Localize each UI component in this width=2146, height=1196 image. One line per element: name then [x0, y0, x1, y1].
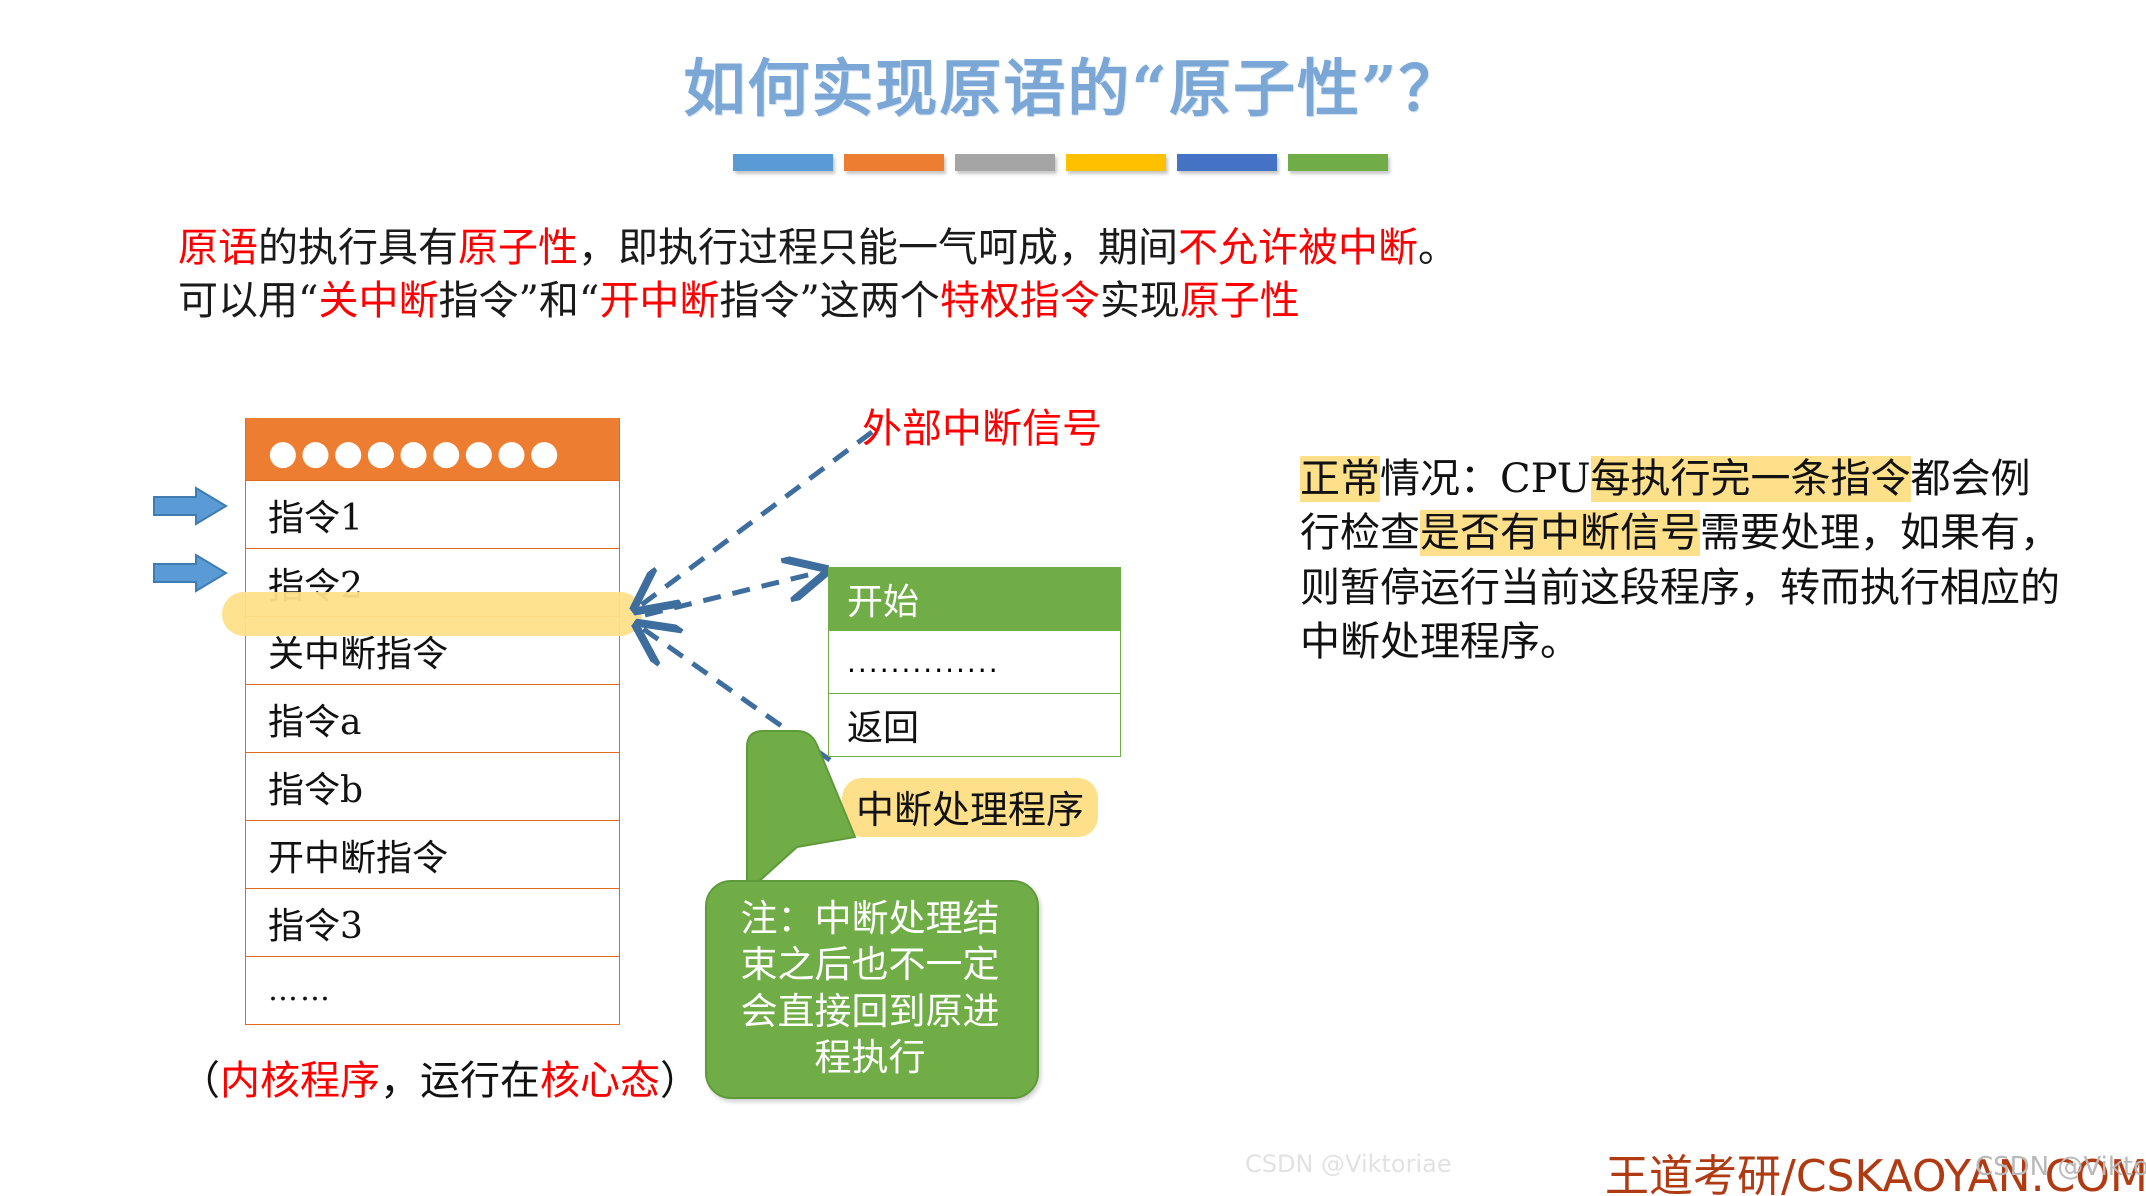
intro-line-2-run-7: 实现	[1100, 278, 1180, 324]
intro-line-2-run-6: 特权指令	[940, 278, 1100, 324]
block-arrow-instruction-1	[152, 486, 228, 526]
callout-text: 注：中断处理结束之后也不一定会直接回到原进程执行	[705, 896, 1035, 1081]
intro-line-1-run-1: 原语	[178, 225, 258, 271]
isr-row-1: ..............	[829, 630, 1120, 693]
accent-bar-2	[844, 154, 944, 171]
intro-line-1-run-2: 的执行具有	[258, 225, 458, 271]
isr-caption: 中断处理程序	[842, 778, 1098, 837]
intro-line-1-run-5: 不允许被中断	[1178, 225, 1418, 271]
accent-bar-group	[733, 154, 1388, 171]
kernel-caption-black-1: ，运行在	[380, 1058, 540, 1104]
slide-canvas: 如何实现原语的“原子性”？ 原语的执行具有原子性，即执行过程只能一气呵成，期间不…	[0, 0, 2146, 1196]
program-table-header: ●●●●●●●●●	[246, 418, 619, 480]
dashed-arrow-program-to-isr	[645, 572, 820, 615]
isr-table-header: 开始	[829, 567, 1120, 630]
program-row-7: 指令3	[246, 888, 619, 956]
interrupt-point-highlight	[222, 592, 642, 636]
program-row-1: 指令1	[246, 480, 619, 548]
intro-line-1-run-6: 。	[1418, 225, 1458, 271]
kernel-caption-red-2: 核心态	[540, 1058, 660, 1104]
watermark-right: CSDN @Viktoriae	[1975, 1152, 2146, 1182]
program-row-6: 开中断指令	[246, 820, 619, 888]
note-segment-5: 是否有中断信号	[1420, 510, 1700, 556]
program-row-5: 指令b	[246, 752, 619, 820]
watermark-center: CSDN @Viktoriae	[1245, 1150, 1452, 1178]
intro-line-2-run-4: 开中断	[599, 278, 719, 324]
intro-line-2-run-8: 原子性	[1180, 278, 1300, 324]
program-row-8: ……	[246, 956, 619, 1024]
callout-line-2: 束之后也不一定	[705, 942, 1035, 988]
normal-case-note: 正常情况：CPU每执行完一条指令都会例行检查是否有中断信号需要处理，如果有，则暂…	[1300, 452, 2060, 670]
interrupt-handler-table: 开始 ..............返回	[828, 567, 1121, 757]
isr-table-rows: ..............返回	[829, 630, 1120, 756]
external-interrupt-signal-label: 外部中断信号	[862, 396, 1102, 454]
intro-line-1-run-4: ，即执行过程只能一气呵成，期间	[578, 225, 1178, 271]
accent-bar-5	[1177, 154, 1277, 171]
kernel-program-caption: （内核程序，运行在核心态）	[180, 1048, 700, 1106]
accent-bar-6	[1288, 154, 1388, 171]
kernel-caption-open: （	[180, 1058, 220, 1104]
intro-line-2: 可以用“关中断指令”和“开中断指令”这两个特权指令实现原子性	[178, 275, 1458, 328]
accent-bar-1	[733, 154, 833, 171]
callout-tail	[737, 727, 857, 892]
intro-line-2-run-5: 指令”这两个	[719, 278, 939, 324]
intro-line-1-run-3: 原子性	[458, 225, 578, 271]
note-segment-2: 情况：CPU	[1380, 456, 1591, 502]
intro-line-1: 原语的执行具有原子性，即执行过程只能一气呵成，期间不允许被中断。	[178, 222, 1458, 275]
intro-line-2-run-2: 关中断	[318, 278, 438, 324]
block-arrow-instruction-2	[152, 553, 228, 593]
callout-line-4: 程执行	[705, 1035, 1035, 1081]
program-instruction-table: ●●●●●●●●● 指令1指令2关中断指令指令a指令b开中断指令指令3……	[245, 418, 620, 1025]
program-row-4: 指令a	[246, 684, 619, 752]
program-table-header-dots: ●●●●●●●●●	[268, 436, 562, 470]
accent-bar-3	[955, 154, 1055, 171]
page-title: 如何实现原语的“原子性”？	[0, 38, 2146, 128]
kernel-caption-close: ）	[660, 1058, 700, 1104]
note-segment-3: 每执行完一条指令	[1591, 456, 1911, 502]
program-table-rows: 指令1指令2关中断指令指令a指令b开中断指令指令3……	[246, 480, 619, 1024]
callout-line-3: 会直接回到原进	[705, 989, 1035, 1035]
intro-paragraph: 原语的执行具有原子性，即执行过程只能一气呵成，期间不允许被中断。 可以用“关中断…	[178, 222, 1458, 328]
intro-line-2-run-3: 指令”和“	[438, 278, 599, 324]
callout-line-1: 注：中断处理结	[705, 896, 1035, 942]
kernel-caption-red-1: 内核程序	[220, 1058, 380, 1104]
isr-row-2: 返回	[829, 693, 1120, 756]
note-segment-1: 正常	[1300, 456, 1380, 502]
intro-line-2-run-1: 可以用“	[178, 278, 318, 324]
accent-bar-4	[1066, 154, 1166, 171]
